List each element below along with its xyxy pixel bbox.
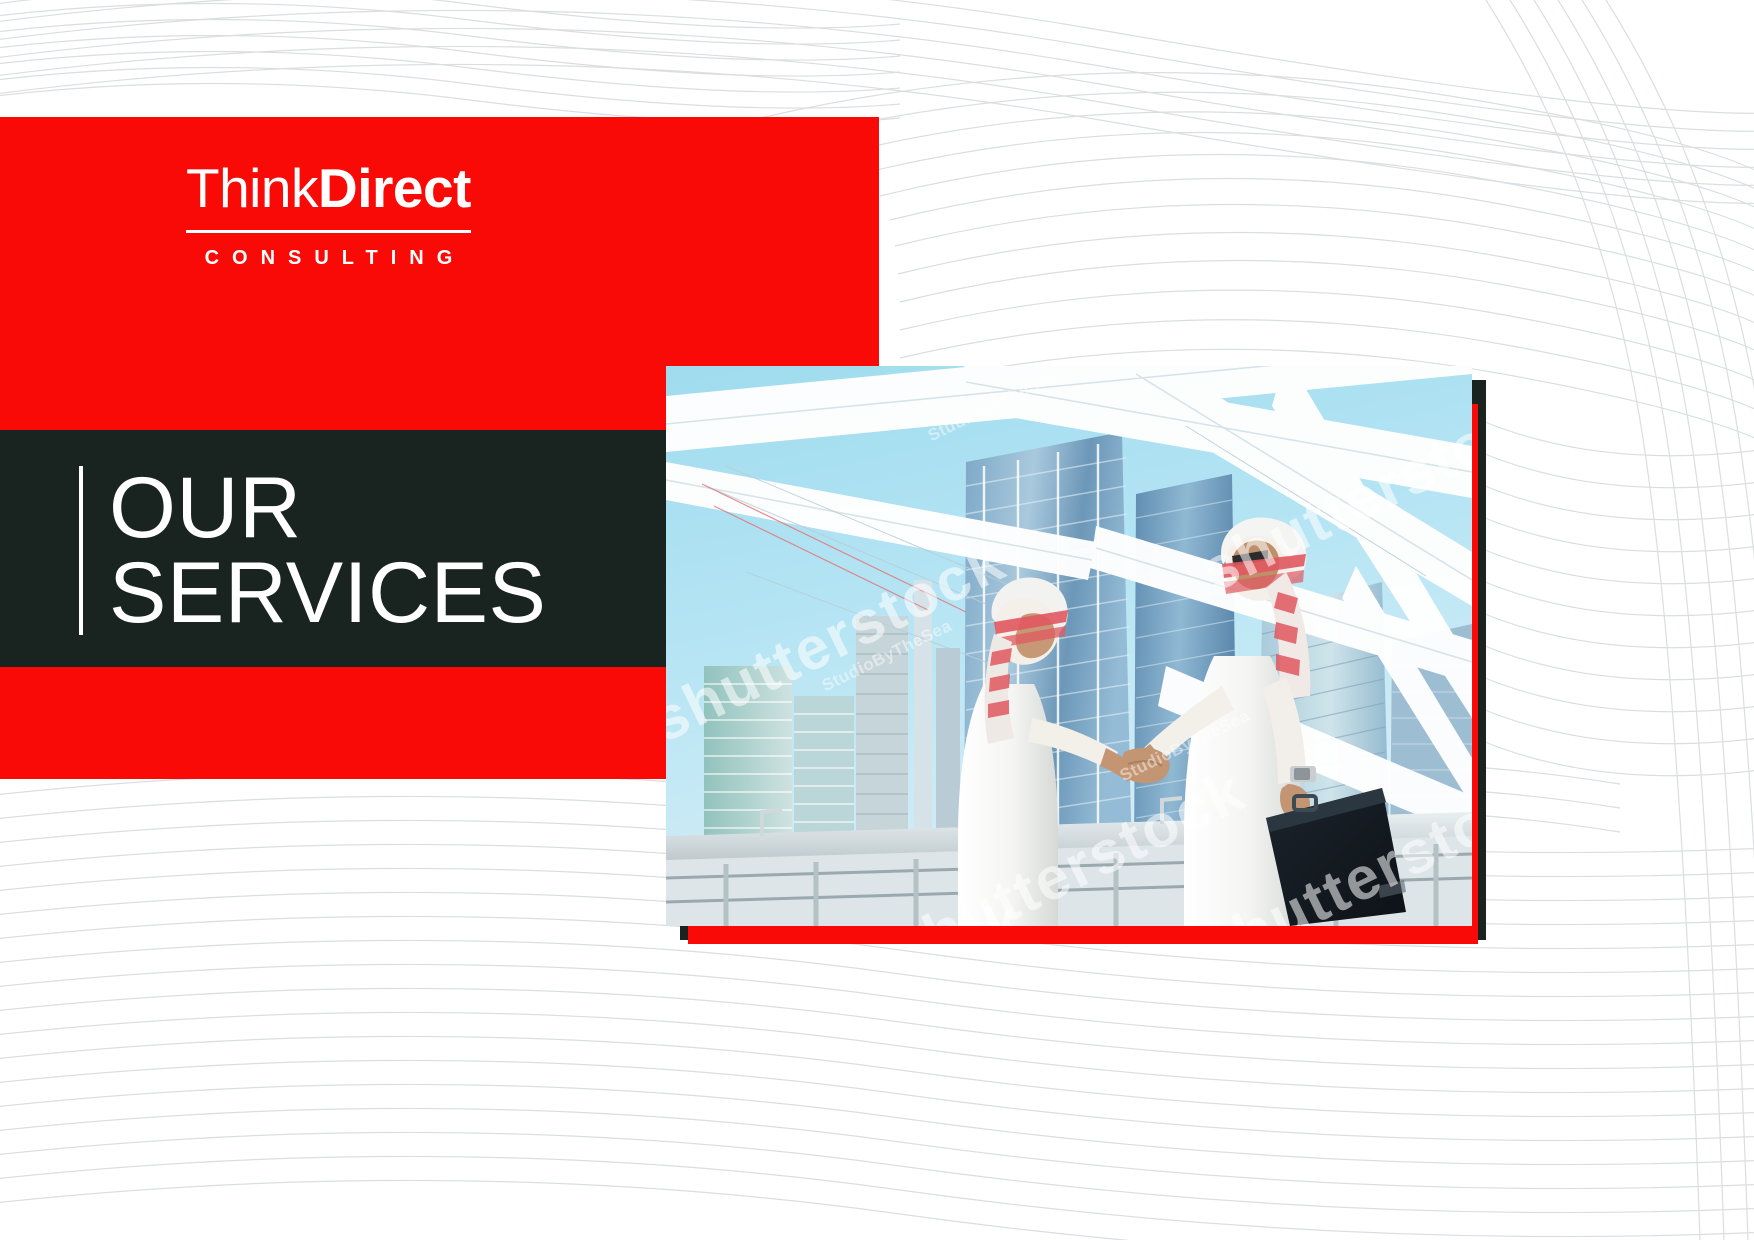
red-block-bottom <box>0 664 740 779</box>
heading-bar: OUR SERVICES <box>0 430 740 667</box>
slide-canvas: OUR SERVICES ThinkDirect CONSULTING <box>0 0 1754 1240</box>
logo-subtitle: CONSULTING <box>186 247 471 270</box>
heading-accent-rule <box>79 466 83 635</box>
logo-divider-rule <box>186 230 471 233</box>
photo-frame: shutterstock shutterstock shutterstock s… <box>666 366 1472 926</box>
heading-group: OUR SERVICES <box>79 466 546 635</box>
logo: ThinkDirect CONSULTING <box>186 160 471 270</box>
logo-word-think: Think <box>186 157 318 219</box>
hero-photo: shutterstock shutterstock shutterstock s… <box>666 366 1472 926</box>
page-title: OUR SERVICES <box>109 466 546 635</box>
logo-wordmark: ThinkDirect <box>186 160 471 218</box>
logo-word-direct: Direct <box>318 157 471 219</box>
